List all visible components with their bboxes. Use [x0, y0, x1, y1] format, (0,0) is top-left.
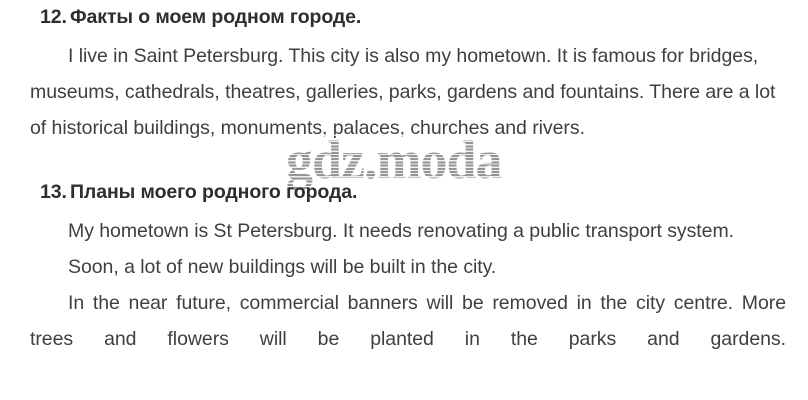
exercise-13-paragraph-2: Soon, a lot of new buildings will be bui…	[30, 249, 786, 285]
exercise-12-body: I live in Saint Petersburg. This city is…	[30, 38, 786, 146]
exercise-13-body: My hometown is St Petersburg. It needs r…	[30, 213, 786, 393]
exercise-13-paragraph-3: In the near future, commercial banners w…	[30, 285, 786, 393]
exercise-13-heading: 13. Планы моего родного города.	[30, 181, 357, 204]
exercise-13-paragraph-1: My hometown is St Petersburg. It needs r…	[30, 213, 786, 249]
exercise-12-number: 12.	[40, 6, 70, 29]
exercise-12-title: Факты о моем родном городе.	[70, 6, 361, 29]
exercise-13-number: 13.	[40, 181, 70, 204]
exercise-13-title: Планы моего родного города.	[70, 181, 357, 204]
exercise-12-heading: 12. Факты о моем родном городе.	[30, 6, 361, 29]
exercise-12-paragraph-1: I live in Saint Petersburg. This city is…	[30, 38, 786, 146]
document-page: 12. Факты о моем родном городе. I live i…	[0, 0, 808, 400]
